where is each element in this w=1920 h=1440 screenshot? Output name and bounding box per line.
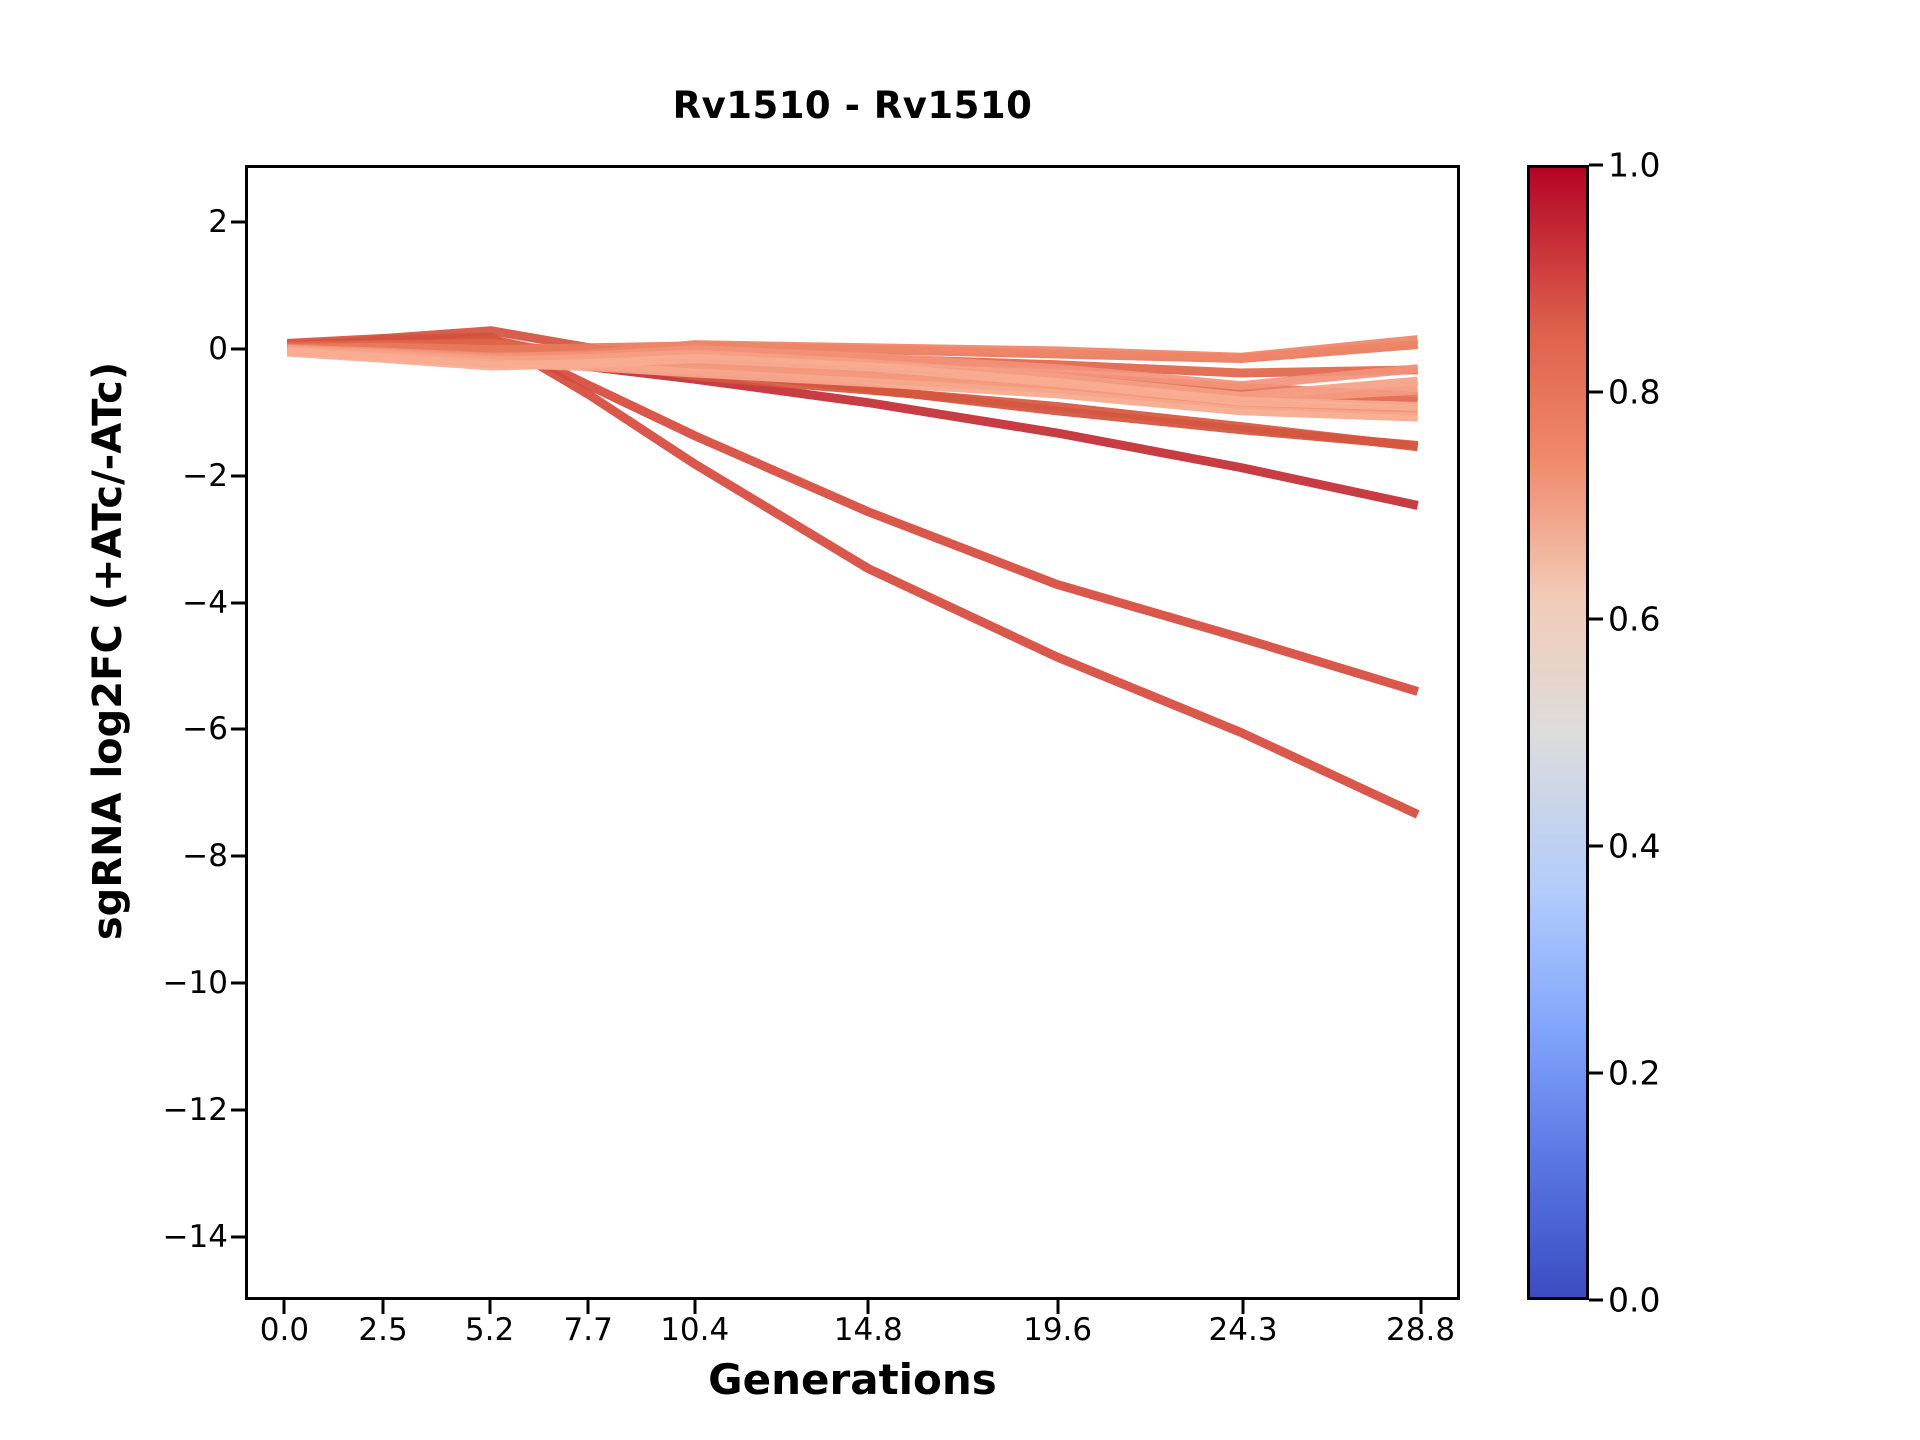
x-axis-label: Generations bbox=[245, 1355, 1460, 1404]
matplotlib-figure: Rv1510 - Rv1510 20−2−4−6−8−10−12−14 0.02… bbox=[0, 0, 1920, 1440]
colorbar-tick-label: 0.2 bbox=[1608, 1054, 1660, 1093]
x-tick-label: 24.3 bbox=[1209, 1312, 1278, 1348]
x-tick-mark bbox=[488, 1300, 491, 1314]
x-tick-label: 28.8 bbox=[1386, 1312, 1455, 1348]
x-tick-mark bbox=[693, 1300, 696, 1314]
y-tick-mark bbox=[231, 474, 245, 477]
colorbar-tick-label: 0.4 bbox=[1608, 827, 1660, 866]
colorbar-tick-label: 1.0 bbox=[1608, 146, 1660, 185]
figure-canvas: Rv1510 - Rv1510 20−2−4−6−8−10−12−14 0.02… bbox=[0, 0, 1920, 1440]
x-tick-mark bbox=[867, 1300, 870, 1314]
x-tick-label: 7.7 bbox=[564, 1312, 613, 1348]
x-tick-label: 10.4 bbox=[660, 1312, 729, 1348]
y-tick-mark bbox=[231, 981, 245, 984]
page-title: Rv1510 - Rv1510 bbox=[245, 84, 1460, 127]
line-series-group bbox=[248, 168, 1457, 1297]
y-tick-mark bbox=[231, 1108, 245, 1111]
x-tick-label: 0.0 bbox=[260, 1312, 309, 1348]
colorbar-tick-mark bbox=[1589, 845, 1603, 848]
colorbar-tick-label: 0.0 bbox=[1608, 1281, 1660, 1320]
colorbar bbox=[1527, 165, 1589, 1300]
colorbar-tick-mark bbox=[1589, 1299, 1603, 1302]
colorbar-tick-mark bbox=[1589, 164, 1603, 167]
colorbar-tick-label: 0.6 bbox=[1608, 600, 1660, 639]
plot-axes bbox=[245, 165, 1460, 1300]
y-tick-mark bbox=[231, 347, 245, 350]
y-axis-label: sgRNA log2FC (+ATc/-ATc) bbox=[85, 151, 131, 1151]
x-tick-mark bbox=[1419, 1300, 1422, 1314]
y-tick-mark bbox=[231, 728, 245, 731]
x-tick-mark bbox=[283, 1300, 286, 1314]
y-tick-mark bbox=[231, 601, 245, 604]
x-tick-mark bbox=[1242, 1300, 1245, 1314]
x-tick-label: 5.2 bbox=[465, 1312, 514, 1348]
x-tick-mark bbox=[382, 1300, 385, 1314]
x-tick-mark bbox=[587, 1300, 590, 1314]
x-tick-label: 19.6 bbox=[1023, 1312, 1092, 1348]
colorbar-tick-mark bbox=[1589, 1072, 1603, 1075]
colorbar-tick-mark bbox=[1589, 618, 1603, 621]
y-tick-mark bbox=[231, 1235, 245, 1238]
y-tick-label: −14 bbox=[88, 1219, 228, 1255]
x-tick-mark bbox=[1056, 1300, 1059, 1314]
colorbar-tick-mark bbox=[1589, 391, 1603, 394]
x-tick-label: 14.8 bbox=[834, 1312, 903, 1348]
x-tick-label: 2.5 bbox=[358, 1312, 407, 1348]
colorbar-tick-label: 0.8 bbox=[1608, 373, 1660, 412]
y-tick-mark bbox=[231, 221, 245, 224]
y-tick-mark bbox=[231, 855, 245, 858]
